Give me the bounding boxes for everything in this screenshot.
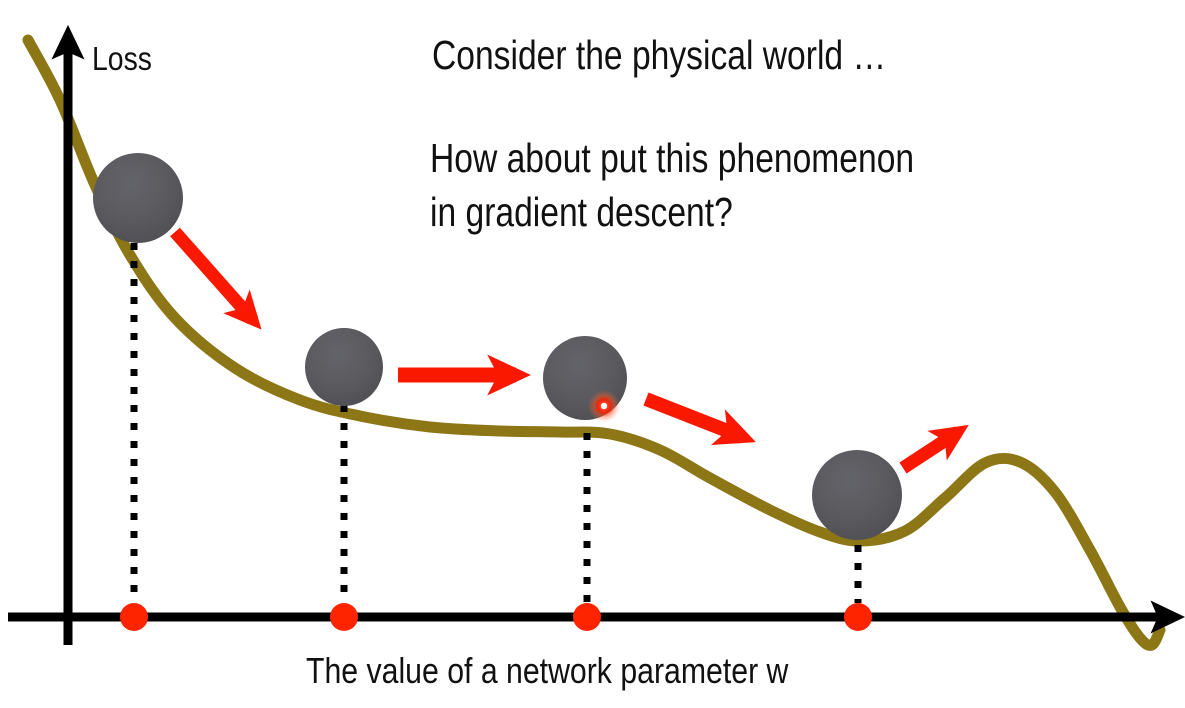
arrow-4	[903, 432, 958, 468]
loss-landscape-figure	[0, 0, 1185, 708]
headline-text: Consider the physical world …	[432, 32, 886, 79]
ball-4	[812, 450, 902, 540]
subhead-line-2: in gradient descent?	[430, 185, 1168, 239]
ball-2	[305, 328, 383, 406]
parameter-marker-3	[573, 603, 601, 631]
laser-pointer-group	[588, 390, 620, 422]
parameter-marker-2	[330, 603, 358, 631]
slide-canvas: Consider the physical world … How about …	[0, 0, 1185, 708]
ball-1	[93, 153, 183, 243]
arrow-3	[646, 399, 743, 437]
arrow-1	[175, 232, 253, 320]
parameter-marker-1	[120, 603, 148, 631]
drop-lines-group	[134, 243, 858, 603]
subhead-text: How about put this phenomenon in gradien…	[430, 131, 1168, 239]
subhead-line-1: How about put this phenomenon	[430, 131, 1168, 185]
x-axis-label: The value of a network parameter w	[306, 650, 788, 692]
laser-pointer-dot	[601, 403, 607, 409]
parameter-marker-4	[844, 603, 872, 631]
y-axis-label: Loss	[92, 40, 152, 78]
